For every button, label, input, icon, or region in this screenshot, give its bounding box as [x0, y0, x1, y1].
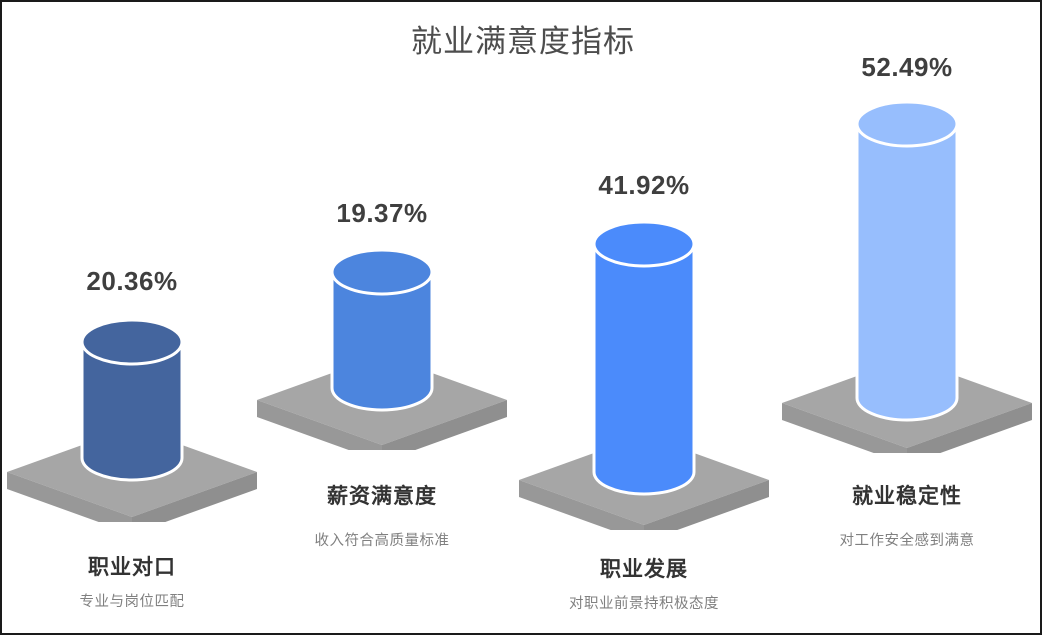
cylinder-bar-2[interactable] [327, 250, 437, 410]
bar-category-label-2: 薪资满意度 [252, 480, 512, 510]
bar-category-label-1: 职业对口 [2, 551, 262, 581]
bar-group-2[interactable]: 19.37% 薪资满意度 收入符合高质量标准 [252, 2, 512, 635]
bar-value-label-3: 41.92% [514, 170, 774, 201]
bar-group-3[interactable]: 41.92% 职业发展 对职业前景持积极态度 [514, 2, 774, 635]
bar-value-label-1: 20.36% [2, 266, 262, 297]
bar-value-label-2: 19.37% [252, 198, 512, 229]
cylinder-bar-1[interactable] [77, 320, 187, 480]
bar-description-1: 专业与岗位匹配 [2, 590, 262, 611]
chart-canvas: 就业满意度指标 20.36% 职业对口 专业与岗位匹配 19.37% [0, 0, 1042, 635]
bar-description-3: 对职业前景持积极态度 [514, 592, 774, 613]
cylinder-bar-4[interactable] [852, 102, 962, 420]
bar-group-1[interactable]: 20.36% 职业对口 专业与岗位匹配 [2, 2, 262, 635]
bar-description-2: 收入符合高质量标准 [252, 529, 512, 550]
bar-category-label-3: 职业发展 [514, 553, 774, 583]
bar-group-4[interactable]: 52.49% 就业稳定性 对工作安全感到满意 [777, 2, 1037, 635]
cylinder-bar-3[interactable] [589, 222, 699, 494]
bar-description-4: 对工作安全感到满意 [777, 529, 1037, 550]
bar-category-label-4: 就业稳定性 [777, 480, 1037, 510]
bar-value-label-4: 52.49% [777, 52, 1037, 83]
